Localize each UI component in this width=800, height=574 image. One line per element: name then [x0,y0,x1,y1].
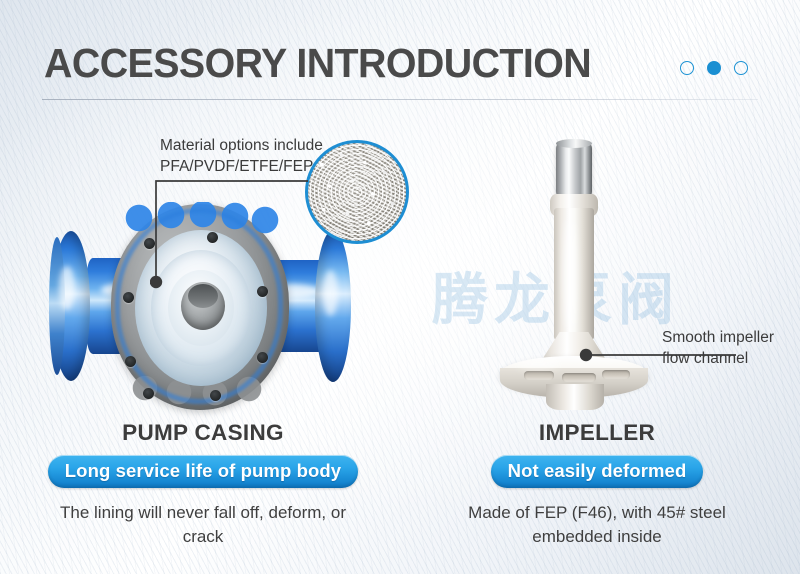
outlet-flange-highlight [323,270,338,316]
impeller-annotation-text: Smooth impeller flow channel [662,328,774,369]
column-impeller: IMPELLER Not easily deformed Made of FEP… [397,420,797,549]
impeller-flow-slot [602,370,630,379]
pump-casing-title: PUMP CASING [3,420,403,446]
column-pump-casing: PUMP CASING Long service life of pump bo… [3,420,403,549]
pump-hub-bore [188,284,218,308]
casing-bolt-hole [207,232,218,243]
casing-annotation-text: Material options include PFA/PVDF/ETFE/F… [160,136,323,177]
title-divider [42,99,758,100]
carousel-dots[interactable] [680,61,748,75]
impeller-flow-slot [562,373,596,382]
impeller-bottom-boss [546,384,604,410]
casing-bolt-hole [257,352,268,363]
impeller-illustration [490,140,690,412]
pump-casing-description: The lining will never fall off, deform, … [38,501,368,549]
carousel-dot-3[interactable] [734,61,748,75]
impeller-neck-highlight [564,220,576,328]
casing-bolt-hole [143,388,154,399]
pump-casing-illustration [35,196,365,416]
casing-bolt-hole [210,390,221,401]
impeller-badge: Not easily deformed [491,455,704,488]
impeller-steel-shaft [556,142,592,200]
inlet-flange-highlight [59,266,75,310]
carousel-dot-1[interactable] [680,61,694,75]
impeller-flow-slot [524,371,554,380]
carousel-dot-2-active[interactable] [707,61,721,75]
slide-canvas: ACCESSORY INTRODUCTION ⌈⌊ 腾龙泵阀 [0,0,800,574]
impeller-title: IMPELLER [397,420,797,446]
pump-casing-badge: Long service life of pump body [48,455,358,488]
casing-bolt-hole [257,286,268,297]
page-title: ACCESSORY INTRODUCTION [44,40,591,87]
casing-bolt-hole [123,292,134,303]
impeller-shaft-top-cap [556,139,592,148]
casing-bolt-hole [125,356,136,367]
impeller-description: Made of FEP (F46), with 45# steel embedd… [432,501,762,549]
impeller-disc-highlight [518,360,558,368]
casing-bolt-hole [144,238,155,249]
